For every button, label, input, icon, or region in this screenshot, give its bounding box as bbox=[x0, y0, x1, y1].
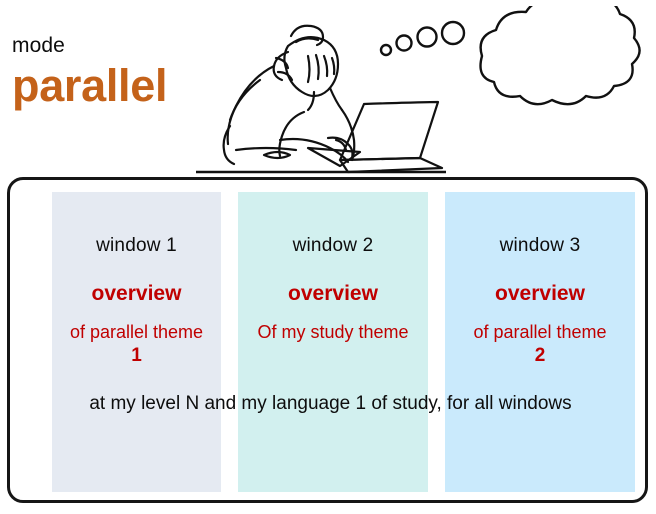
thought-bubble-icon: I learn better by comparison bbox=[378, 6, 656, 142]
window-panel-2-subtitle: Of my study theme bbox=[238, 320, 428, 344]
windows-container: window 1 overview of parallel theme 1 wi… bbox=[7, 177, 648, 503]
window-panel-2[interactable]: window 2 overview Of my study theme bbox=[238, 192, 428, 492]
window-panel-1[interactable]: window 1 overview of parallel theme 1 bbox=[52, 192, 221, 492]
window-panel-1-subtitle: of parallel theme 1 bbox=[52, 320, 221, 368]
window-panel-3-heading: overview bbox=[445, 282, 635, 306]
window-panel-3-title: window 3 bbox=[445, 235, 635, 257]
mode-value: parallel bbox=[12, 63, 167, 108]
window-panel-2-title: window 2 bbox=[238, 235, 428, 257]
window-panel-1-emphasis: 1 bbox=[52, 344, 221, 368]
header-area: mode parallel bbox=[0, 0, 656, 178]
window-panel-3-subtitle-text: of parallel theme bbox=[473, 322, 606, 342]
window-panel-3-emphasis: 2 bbox=[445, 344, 635, 368]
window-panel-2-heading: overview bbox=[238, 282, 428, 306]
mode-label: mode bbox=[12, 34, 65, 58]
window-panel-3[interactable]: window 3 overview of parallel theme 2 bbox=[445, 192, 635, 492]
window-panel-1-heading: overview bbox=[52, 282, 221, 306]
window-panel-1-subtitle-text: of parallel theme bbox=[70, 322, 203, 342]
window-panel-2-subtitle-text: Of my study theme bbox=[257, 322, 408, 342]
window-panel-3-subtitle: of parallel theme 2 bbox=[445, 320, 635, 368]
window-panel-1-title: window 1 bbox=[52, 235, 221, 257]
